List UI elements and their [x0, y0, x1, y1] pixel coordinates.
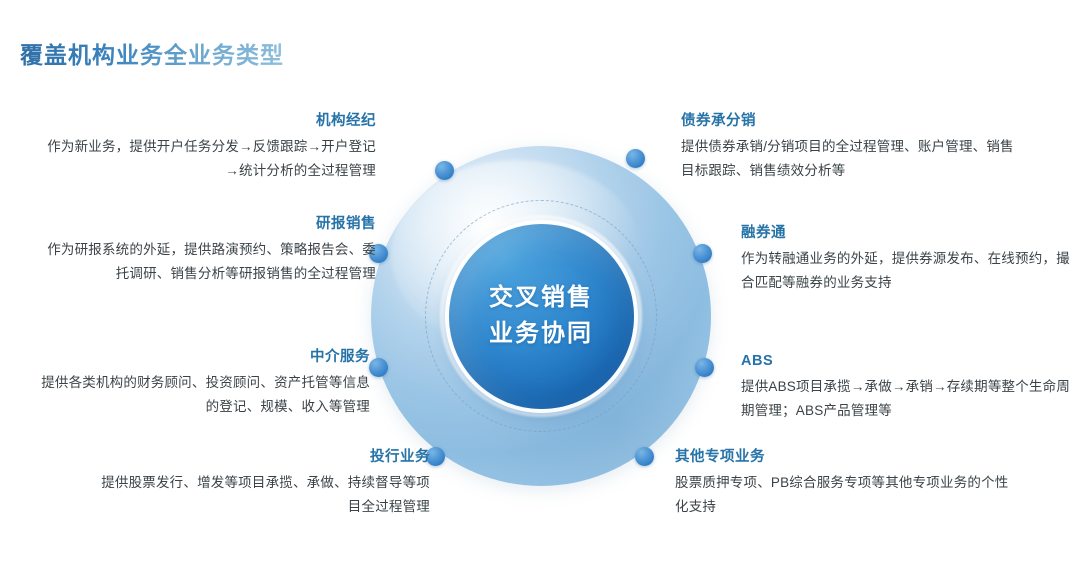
label-securities-lending: 融券通 作为转融通业务的外延，提供券源发布、在线预约，撮合匹配等融券的业务支持 — [741, 225, 1080, 294]
label-body: 提供ABS项目承揽→承做→承销→存续期等整个生命周期管理；ABS产品管理等 — [741, 375, 1080, 421]
label-title: ABS — [741, 353, 1080, 370]
label-body: 作为新业务，提供开户任务分发→反馈跟踪→开户登记→统计分析的全过程管理 — [36, 135, 376, 181]
label-bond-underwriting: 债券承分销 提供债券承销/分销项目的全过程管理、账户管理、销售目标跟踪、销售绩效… — [681, 113, 1021, 182]
label-body: 股票质押专项、PB综合服务专项等其他专项业务的个性化支持 — [675, 471, 1015, 517]
label-investment-banking: 投行业务 提供股票发行、增发等项目承揽、承做、持续督导等项目全过程管理 — [90, 449, 430, 518]
label-research-sales: 研报销售 作为研报系统的外延，提供路演预约、策略报告会、委托调研、销售分析等研报… — [36, 216, 376, 285]
label-other-specialty: 其他专项业务 股票质押专项、PB综合服务专项等其他专项业务的个性化支持 — [675, 449, 1015, 518]
label-body: 提供各类机构的财务顾问、投资顾问、资产托管等信息的登记、规模、收入等管理 — [30, 371, 370, 417]
center-hub-line-2: 业务协同 — [489, 316, 593, 352]
label-intermediary-service: 中介服务 提供各类机构的财务顾问、投资顾问、资产托管等信息的登记、规模、收入等管… — [30, 349, 370, 418]
label-body: 提供债券承销/分销项目的全过程管理、账户管理、销售目标跟踪、销售绩效分析等 — [681, 135, 1021, 181]
node-dot-abs[interactable] — [695, 358, 714, 377]
radial-diagram: 交叉销售 业务协同 — [371, 146, 711, 486]
label-title: 融券通 — [741, 225, 1080, 242]
label-title: 中介服务 — [30, 349, 370, 366]
label-title: 机构经纪 — [36, 113, 376, 130]
node-dot-institutional-brokerage[interactable] — [435, 161, 454, 180]
label-title: 研报销售 — [36, 216, 376, 233]
label-title: 其他专项业务 — [675, 449, 1015, 466]
label-title: 投行业务 — [90, 449, 430, 466]
label-abs: ABS 提供ABS项目承揽→承做→承销→存续期等整个生命周期管理；ABS产品管理… — [741, 353, 1080, 422]
center-hub[interactable]: 交叉销售 业务协同 — [449, 224, 634, 409]
label-institutional-brokerage: 机构经纪 作为新业务，提供开户任务分发→反馈跟踪→开户登记→统计分析的全过程管理 — [36, 113, 376, 182]
label-body: 提供股票发行、增发等项目承揽、承做、持续督导等项目全过程管理 — [90, 471, 430, 517]
center-hub-line-1: 交叉销售 — [489, 280, 593, 316]
label-title: 债券承分销 — [681, 113, 1021, 130]
node-dot-other-specialty[interactable] — [635, 447, 654, 466]
node-dot-securities-lending[interactable] — [693, 244, 712, 263]
label-body: 作为转融通业务的外延，提供券源发布、在线预约，撮合匹配等融券的业务支持 — [741, 247, 1080, 293]
label-body: 作为研报系统的外延，提供路演预约、策略报告会、委托调研、销售分析等研报销售的全过… — [36, 238, 376, 284]
node-dot-bond-underwriting[interactable] — [626, 149, 645, 168]
node-dot-intermediary-service[interactable] — [369, 358, 388, 377]
page-title: 覆盖机构业务全业务类型 — [20, 36, 284, 70]
